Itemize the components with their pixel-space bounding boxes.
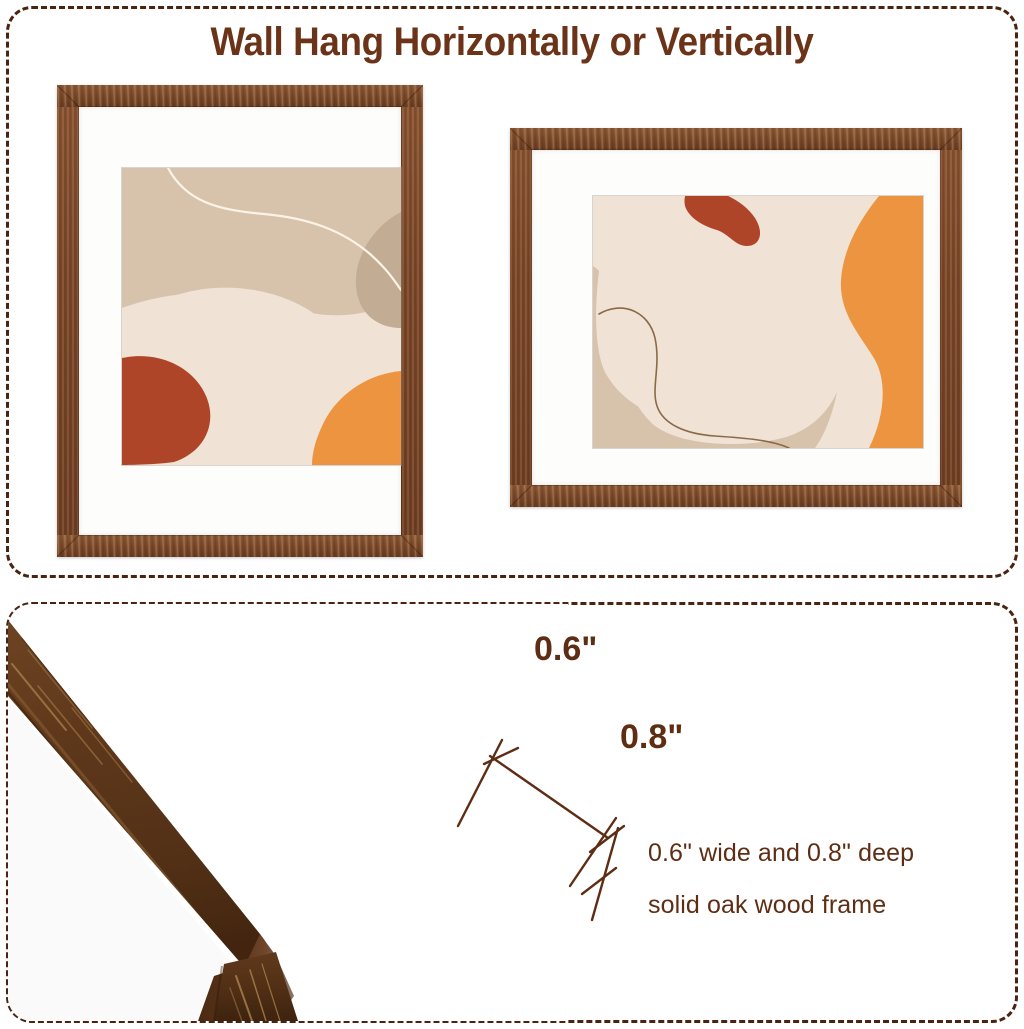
- vertical-frame-mat: [79, 107, 401, 535]
- frame-depth-label: 0.8": [620, 718, 683, 757]
- page-title: Wall Hang Horizontally or Vertically: [41, 20, 983, 65]
- frame-description-line-2: solid oak wood frame: [648, 891, 886, 920]
- wood-corner-closeup-photo: [8, 604, 568, 1021]
- frame-width-label: 0.6": [534, 630, 597, 669]
- frame-bottom-rail: [510, 485, 962, 507]
- vertical-frame-artwork: [122, 168, 401, 465]
- horizontal-frame-mat: [532, 150, 940, 485]
- frame-top-rail: [57, 85, 423, 107]
- frame-bottom-rail: [57, 535, 423, 557]
- frame-top-rail: [510, 128, 962, 150]
- vertical-frame: [57, 85, 423, 557]
- horizontal-frame: [510, 128, 962, 507]
- infographic-root: Wall Hang Horizontally or Vertically: [0, 0, 1024, 1029]
- horizontal-frame-artwork: [593, 196, 923, 448]
- frame-description-line-1: 0.6" wide and 0.8" deep: [648, 839, 914, 868]
